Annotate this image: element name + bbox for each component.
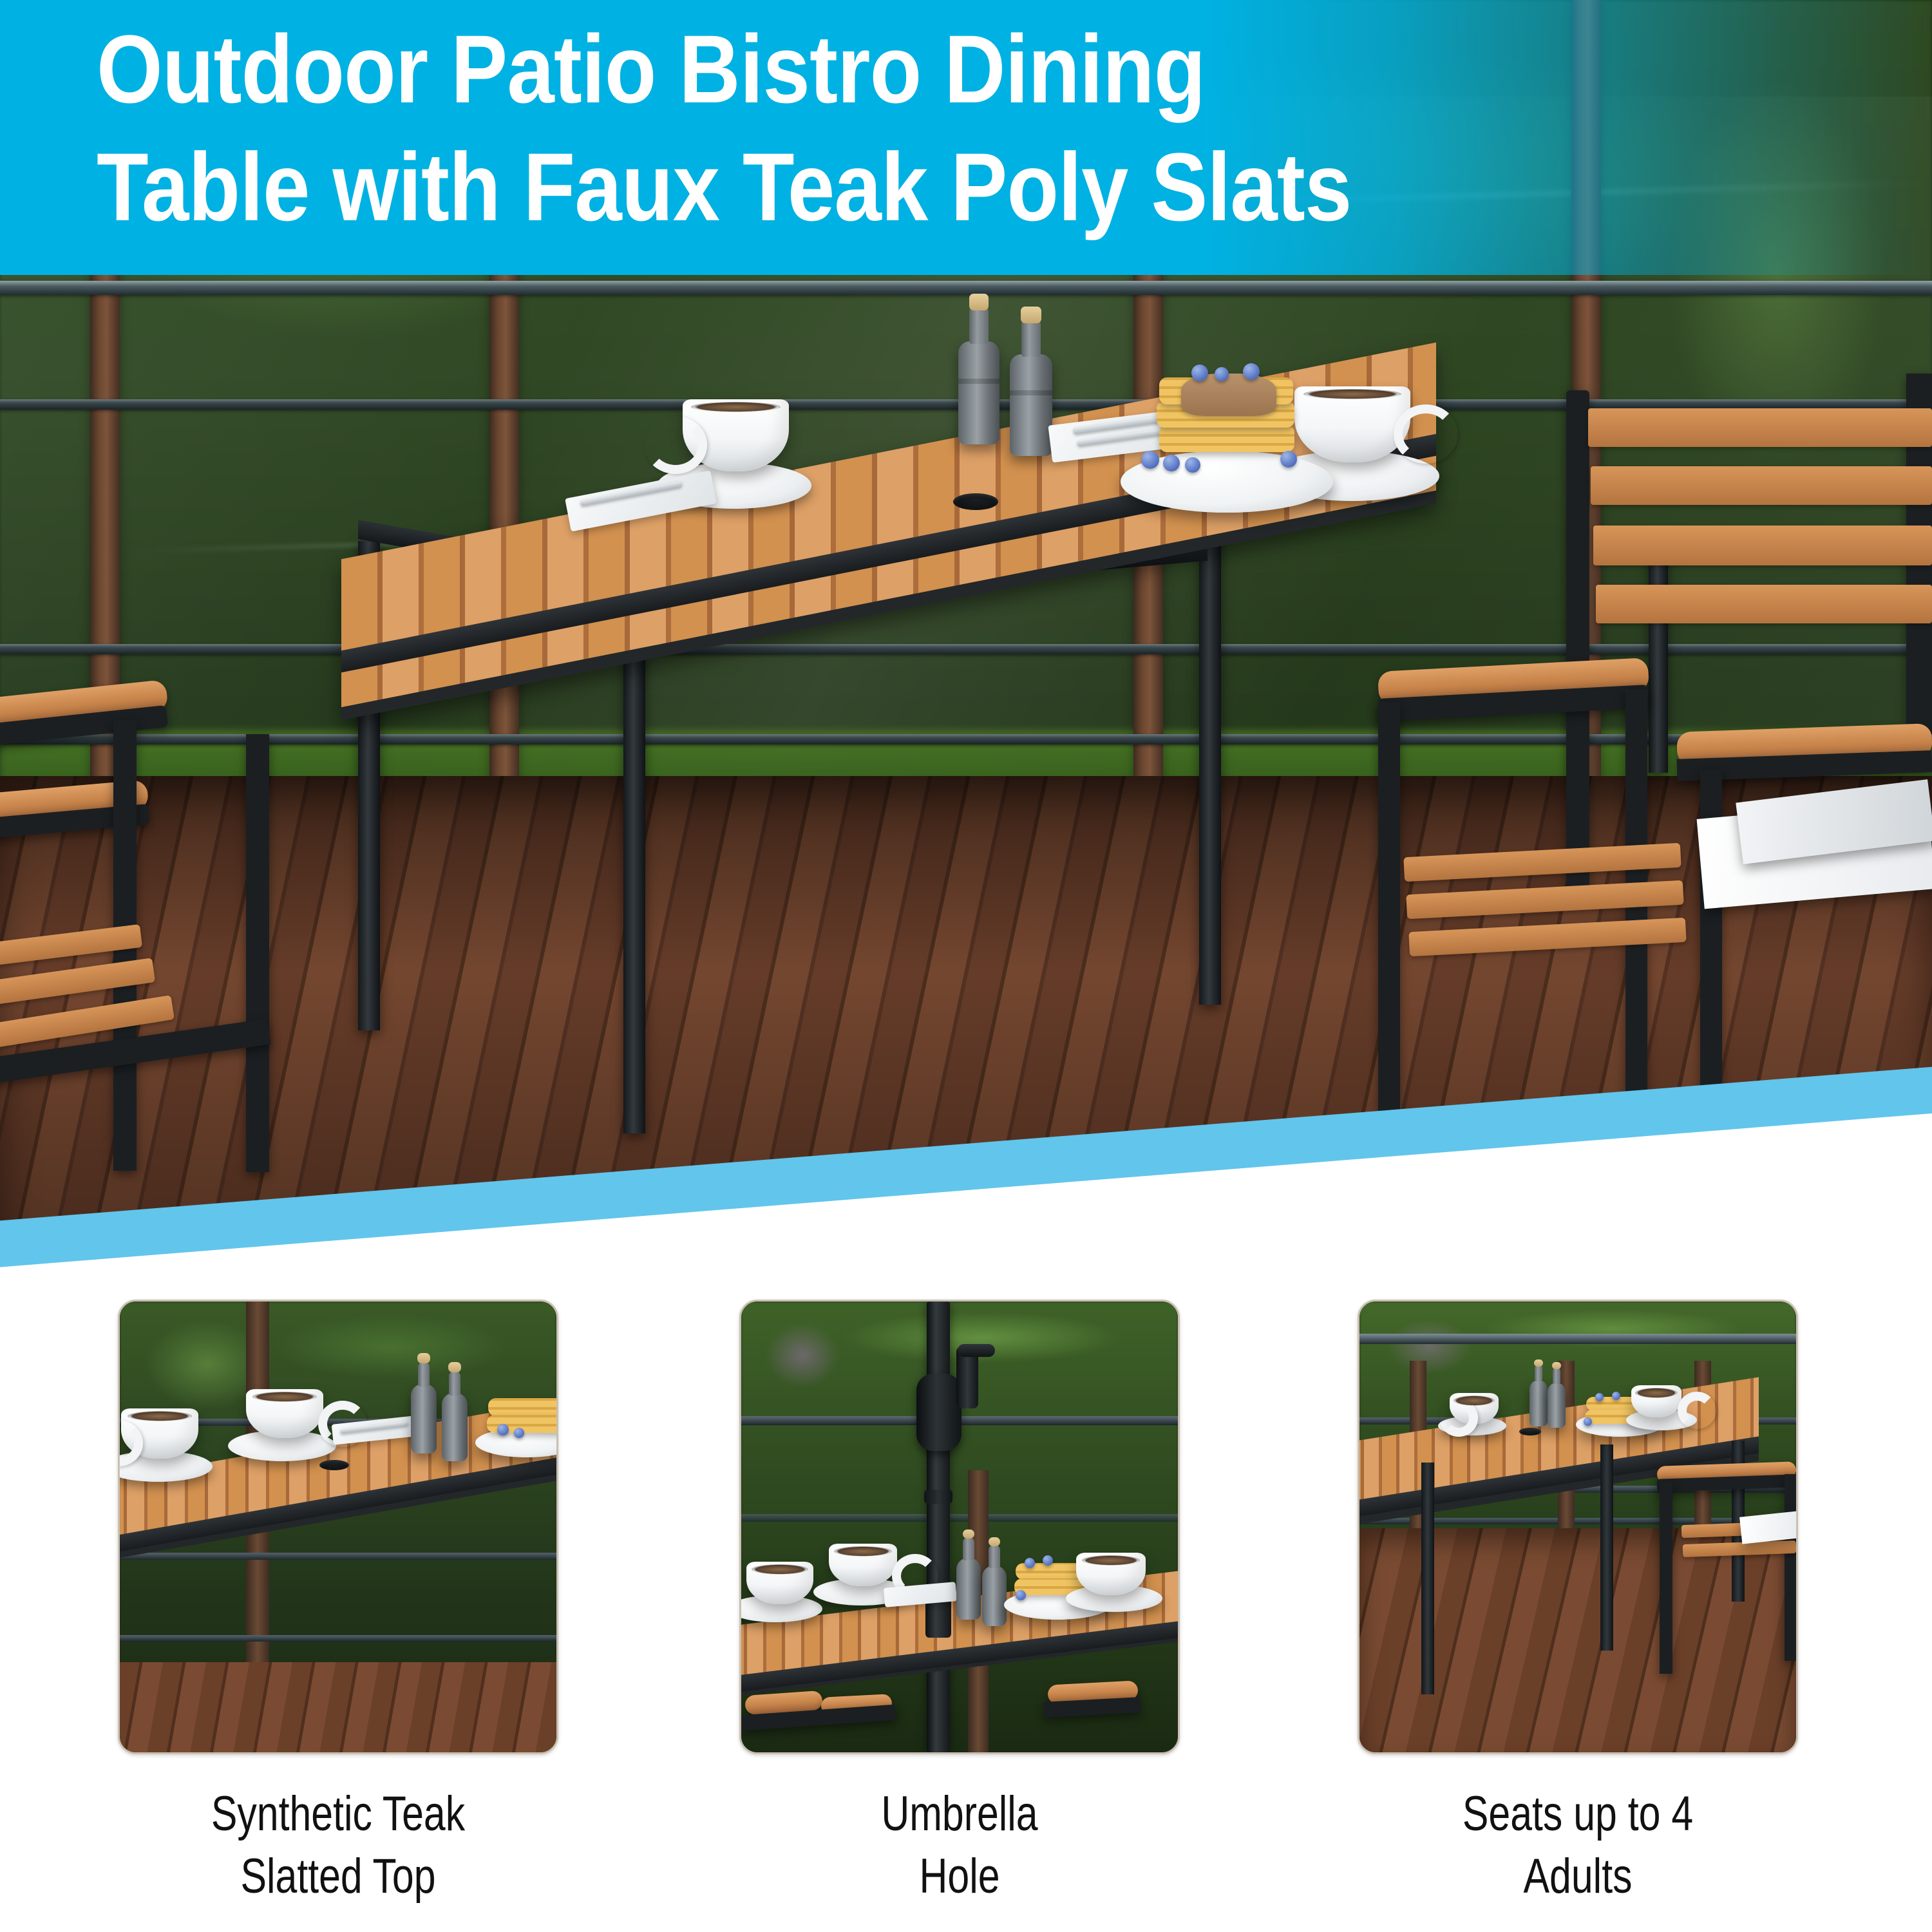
grinder-band <box>1010 390 1052 395</box>
blueberry <box>497 1424 509 1435</box>
blueberry <box>1215 367 1229 381</box>
cup-handle <box>644 416 707 474</box>
chair-leg <box>1378 702 1400 1153</box>
blueberry <box>1243 363 1260 380</box>
blueberry <box>1043 1555 1053 1566</box>
umbrella-hole-cap <box>953 493 998 510</box>
table-leg <box>1649 541 1668 773</box>
cup-handle <box>1394 404 1458 464</box>
blueberry <box>1141 451 1159 469</box>
pepper-grinder <box>411 1384 437 1454</box>
chair-back-post <box>1566 390 1589 893</box>
grinder-neck <box>1535 1365 1543 1381</box>
deck-floor <box>120 1662 556 1752</box>
umbrella-hole-cap <box>1519 1428 1541 1435</box>
grinder-neck <box>1553 1367 1561 1384</box>
feature-caption-seats-four: Seats up to 4 Adults <box>1379 1783 1776 1908</box>
thumbnail-seats-four[interactable] <box>1358 1300 1798 1754</box>
feature-card-synthetic-teak[interactable]: Synthetic Teak Slatted Top <box>90 1300 586 1908</box>
blueberry <box>1584 1417 1592 1426</box>
product-marketing-image: Outdoor Patio Bistro Dining Table with F… <box>0 0 1932 1932</box>
thumbnail-synthetic-teak[interactable] <box>118 1300 558 1754</box>
chair-back-slat <box>1593 526 1932 565</box>
pepper-grinder <box>956 1558 981 1620</box>
blueberry <box>514 1428 524 1438</box>
railing-cable <box>120 1635 556 1642</box>
blueberry <box>1163 455 1180 471</box>
table-leg <box>1600 1444 1613 1651</box>
blueberry <box>1025 1558 1035 1568</box>
grinder-neck <box>963 1537 974 1560</box>
chair-leg <box>1785 1474 1796 1661</box>
grinder-cork-top <box>1534 1359 1542 1367</box>
feature-card-seats-four[interactable]: Seats up to 4 Adults <box>1330 1300 1826 1908</box>
blueberry <box>1191 365 1208 381</box>
umbrella-crank-handle <box>958 1344 995 1357</box>
chair-leg <box>1660 1481 1672 1674</box>
pepper-grinder <box>958 341 999 444</box>
cup-handle <box>1678 1392 1716 1429</box>
table-leg <box>1421 1463 1434 1694</box>
blueberry <box>1280 451 1297 468</box>
grinder-cork-top <box>969 294 989 310</box>
blueberry <box>1016 1590 1026 1600</box>
railing-cable <box>120 1553 556 1560</box>
salt-grinder <box>442 1393 468 1461</box>
chair-leg <box>1625 689 1647 1133</box>
blueberry <box>1612 1392 1620 1400</box>
railing-cable <box>1359 1334 1796 1344</box>
feature-caption-umbrella-hole: Umbrella Hole <box>761 1783 1158 1908</box>
grinder-cork-top <box>417 1353 430 1363</box>
title-banner: Outdoor Patio Bistro Dining Table with F… <box>0 0 1932 275</box>
chair-leg <box>246 734 269 1172</box>
grinder-cork-top <box>1021 307 1041 323</box>
chair-back-slat <box>1596 585 1932 623</box>
thumbnail-umbrella-hole[interactable] <box>739 1300 1180 1754</box>
cup-handle <box>1439 1399 1478 1437</box>
salt-grinder <box>1548 1383 1566 1428</box>
grinder-cork-top <box>963 1529 974 1539</box>
grinder-neck <box>418 1362 430 1387</box>
umbrella-pole-joint <box>924 1490 952 1504</box>
blueberry <box>1185 457 1200 473</box>
grinder-cork-top <box>989 1537 1000 1546</box>
chair-back-slat <box>1588 408 1932 447</box>
grinder-cork-top <box>448 1362 460 1372</box>
salt-grinder <box>1010 354 1052 456</box>
feature-card-umbrella-hole[interactable]: Umbrella Hole <box>712 1300 1207 1908</box>
grinder-neck <box>449 1371 460 1396</box>
waffle <box>488 1398 558 1416</box>
salt-grinder <box>982 1566 1007 1626</box>
umbrella-hole-cap <box>319 1460 349 1470</box>
umbrella-pole <box>927 1302 950 1752</box>
feature-thumbnail-row: Synthetic Teak Slatted Top <box>0 1300 1932 1931</box>
waffle <box>1159 425 1294 452</box>
grinder-band <box>958 379 999 384</box>
chair-back-slat <box>1591 466 1932 505</box>
grinder-neck <box>969 307 988 344</box>
railing-cable <box>741 1514 1178 1522</box>
grinder-neck <box>989 1545 999 1568</box>
pepper-grinder <box>1529 1380 1548 1426</box>
open-magazine <box>1739 1511 1798 1544</box>
feature-caption-synthetic-teak: Synthetic Teak Slatted Top <box>140 1783 536 1908</box>
grinder-cork-top <box>1552 1362 1560 1369</box>
page-title: Outdoor Patio Bistro Dining Table with F… <box>97 10 1627 246</box>
blueberry <box>1595 1393 1604 1401</box>
umbrella-crank-housing <box>916 1374 961 1451</box>
grinder-neck <box>1021 319 1041 357</box>
table-leg <box>1199 515 1221 1005</box>
